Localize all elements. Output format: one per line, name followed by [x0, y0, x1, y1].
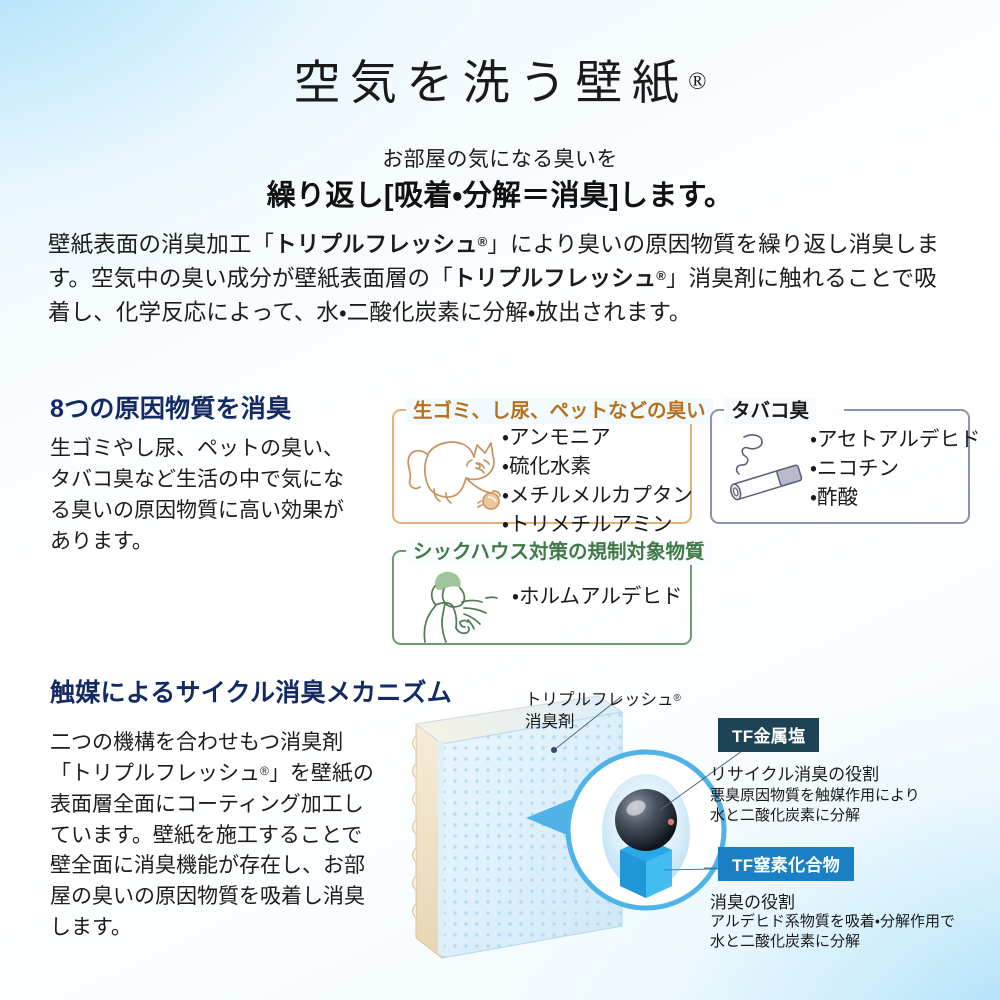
list-item: ・硫化水素	[502, 452, 693, 481]
badge-tf-metal-salt: TF金属塩	[718, 718, 819, 752]
registered-mark-icon: ®	[674, 693, 681, 704]
odor-section-body: 生ゴミやし尿、ペットの臭い、タバコ臭など生活の中で気になる臭いの原因物質に高い効…	[50, 434, 350, 557]
tf-nitrogen-detail-line1: アルデヒド系物質を吸着・分解作用で	[710, 913, 955, 930]
tf-nitrogen-role: 消臭の役割	[710, 888, 795, 913]
infographic-page: 空気を洗う壁紙® お部屋の気になる臭いを 繰り返し[吸着・分解＝消臭]します。 …	[0, 0, 1000, 1000]
lead-brand-1: トリプルフレッシュ	[274, 232, 478, 257]
odor-section-heading: 8つの原因物質を消臭	[50, 389, 291, 425]
list-item: ・メチルメルカプタン	[502, 481, 693, 510]
odor-box-tobacco-items: ・アセトアルデヒド ・ニコチン ・酢酸	[810, 425, 980, 512]
lead-brand-2: トリプルフレッシュ	[453, 266, 657, 291]
mechanism-diagram: トリプルフレッシュ® 消臭剤 TF金属塩 リサイクル消臭の役割 悪臭原因物質を触…	[408, 690, 1000, 990]
lead-paragraph: 壁紙表面の消臭加工「トリプルフレッシュ®」により臭いの原因物質を繰り返し消臭しま…	[48, 228, 954, 331]
tf-metal-salt-role: リサイクル消臭の役割	[710, 760, 879, 785]
mechanism-section-heading: 触媒によるサイクル消臭メカニズム	[50, 673, 452, 709]
registered-mark-icon: ®	[260, 764, 269, 778]
cigarette-illustration	[720, 429, 810, 507]
registered-mark-icon: ®	[478, 234, 488, 249]
page-title: 空気を洗う壁紙®	[0, 44, 1000, 113]
list-item: ・ニコチン	[810, 454, 980, 483]
subtitle-line-2: 繰り返し[吸着・分解＝消臭]します。	[0, 172, 1000, 214]
cat-illustration	[398, 427, 502, 513]
registered-mark-icon: ®	[688, 69, 706, 95]
registered-mark-icon: ®	[656, 268, 666, 283]
wallpaper-coating-label: トリプルフレッシュ® 消臭剤	[525, 690, 681, 734]
list-item: ・アンモニア	[502, 423, 693, 452]
odor-box-sickhouse: シックハウス対策の規制対象物質	[392, 550, 692, 645]
mechanism-text-b: 」を壁紙の表面層全面にコーティング加工しています。壁紙を施工することで壁全面に消…	[50, 762, 374, 939]
tf-metal-salt-detail-line2: 水と二酸化炭素に分解	[710, 807, 860, 824]
coughing-person-illustration	[416, 562, 512, 646]
tf-nitrogen-detail-line2: 水と二酸化炭素に分解	[710, 933, 860, 950]
odor-box-kitchen-caption: 生ゴミ、し尿、ペットなどの臭い	[406, 398, 713, 424]
list-item: ・トリメチルアミン	[502, 510, 693, 539]
odor-box-kitchen-items: ・アンモニア ・硫化水素 ・メチルメルカプタン ・トリメチルアミン	[502, 423, 693, 539]
mechanism-section-body: 二つの機構を合わせもつ消臭剤「トリプルフレッシュ®」を壁紙の表面層全面にコーティ…	[50, 728, 380, 944]
wallpaper-coating-label-line1: トリプルフレッシュ	[525, 691, 674, 709]
tf-metal-salt-detail: 悪臭原因物質を触媒作用により 水と二酸化炭素に分解	[710, 786, 920, 827]
odor-box-tobacco: タバコ臭 ・アセトアルデヒド ・ニコチン ・酢酸	[710, 409, 970, 524]
mechanism-brand: トリプルフレッシュ	[71, 762, 260, 785]
wallpaper-coating-label-line2: 消臭剤	[525, 713, 575, 731]
odor-box-sickhouse-items: ・ホルムアルデヒド	[512, 582, 682, 611]
lead-text-a: 壁紙表面の消臭加工「	[48, 232, 274, 257]
tf-nitrogen-detail: アルデヒド系物質を吸着・分解作用で 水と二酸化炭素に分解	[710, 912, 955, 953]
list-item: ・アセトアルデヒド	[810, 425, 980, 454]
odor-box-tobacco-caption: タバコ臭	[724, 398, 816, 424]
odor-box-kitchen: 生ゴミ、し尿、ペットなどの臭い	[392, 409, 692, 524]
badge-tf-nitrogen-compound: TF窒素化合物	[718, 847, 854, 881]
page-title-text: 空気を洗う壁紙	[293, 58, 688, 110]
subtitle-line-1: お部屋の気になる臭いを	[0, 143, 1000, 173]
list-item: ・酢酸	[810, 483, 980, 512]
list-item: ・ホルムアルデヒド	[512, 582, 682, 611]
tf-metal-salt-detail-line1: 悪臭原因物質を触媒作用により	[710, 787, 920, 804]
